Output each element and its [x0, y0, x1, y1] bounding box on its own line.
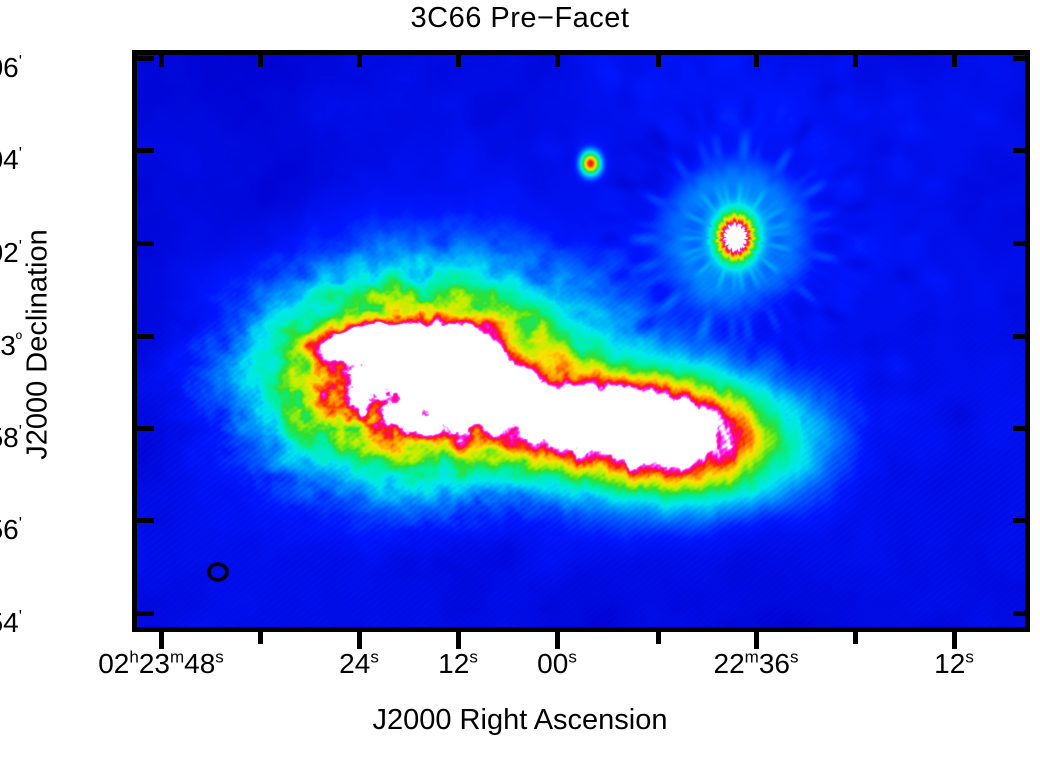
- y-axis-major-tick: [132, 611, 154, 616]
- y-axis-major-tick: [132, 241, 154, 246]
- y-axis-tick-label: 02': [0, 237, 22, 269]
- x-axis-major-tick-outer: [754, 632, 759, 644]
- x-axis-tick-label: 00s: [537, 648, 577, 680]
- x-axis-top-tick: [555, 50, 560, 67]
- x-axis-tick-label: 22m36s: [714, 648, 799, 680]
- y-axis-tick-label: 56': [0, 514, 22, 546]
- y-axis-tick-label: 58': [0, 422, 22, 454]
- y-axis-tick-label: 04': [0, 144, 22, 176]
- x-axis-major-tick-outer: [357, 632, 362, 644]
- y-axis-right-tick: [1013, 334, 1030, 339]
- x-axis-top-tick: [456, 50, 461, 67]
- page-title: 3C66 Pre−Facet: [0, 2, 1040, 35]
- x-axis-major-tick-outer: [159, 632, 164, 644]
- x-axis-major-tick-outer: [952, 632, 957, 644]
- radio-intensity-map: [137, 55, 1025, 627]
- y-axis-right-tick: [1013, 518, 1030, 523]
- x-axis-minor-tick: [656, 627, 661, 644]
- x-axis-tick-labels: 02h23m48s24s12s00s22m36s12s: [0, 648, 1040, 688]
- y-axis-major-tick: [132, 334, 154, 339]
- x-axis-major-tick-outer: [456, 632, 461, 644]
- x-axis-tick-label: 12s: [934, 648, 974, 680]
- y-axis-major-tick: [132, 56, 154, 61]
- y-axis-title: J2000 Declination: [22, 45, 55, 645]
- radio-map-figure: 3C66 Pre−Facet 06'04'02'43º58'56'54' 02h…: [0, 0, 1040, 770]
- x-axis-top-tick: [952, 50, 957, 67]
- x-axis-tick-label: 24s: [339, 648, 379, 680]
- x-axis-top-tick: [357, 50, 362, 67]
- x-axis-minor-tick: [853, 627, 858, 644]
- y-axis-tick-label: 54': [0, 607, 22, 639]
- x-axis-top-minor-tick: [656, 50, 661, 67]
- x-axis-tick-label: 02h23m48s: [98, 648, 224, 680]
- y-axis-right-tick: [1013, 241, 1030, 246]
- y-axis-major-tick: [132, 426, 154, 431]
- x-axis-top-tick: [159, 50, 164, 67]
- y-axis-right-tick: [1013, 56, 1030, 61]
- x-axis-major-tick-outer: [555, 632, 560, 644]
- x-axis-minor-tick: [258, 627, 263, 644]
- y-axis-right-tick: [1013, 611, 1030, 616]
- y-axis-right-tick: [1013, 426, 1030, 431]
- y-axis-major-tick: [132, 518, 154, 523]
- x-axis-top-minor-tick: [853, 50, 858, 67]
- x-axis-tick-label: 12s: [438, 648, 478, 680]
- y-axis-right-tick: [1013, 148, 1030, 153]
- image-plot-area[interactable]: [132, 50, 1030, 632]
- y-axis-major-tick: [132, 148, 154, 153]
- x-axis-top-minor-tick: [258, 50, 263, 67]
- y-axis-tick-label: 43º: [0, 330, 22, 362]
- y-axis-tick-label: 06': [0, 52, 22, 84]
- x-axis-title: J2000 Right Ascension: [0, 704, 1040, 737]
- x-axis-top-tick: [754, 50, 759, 67]
